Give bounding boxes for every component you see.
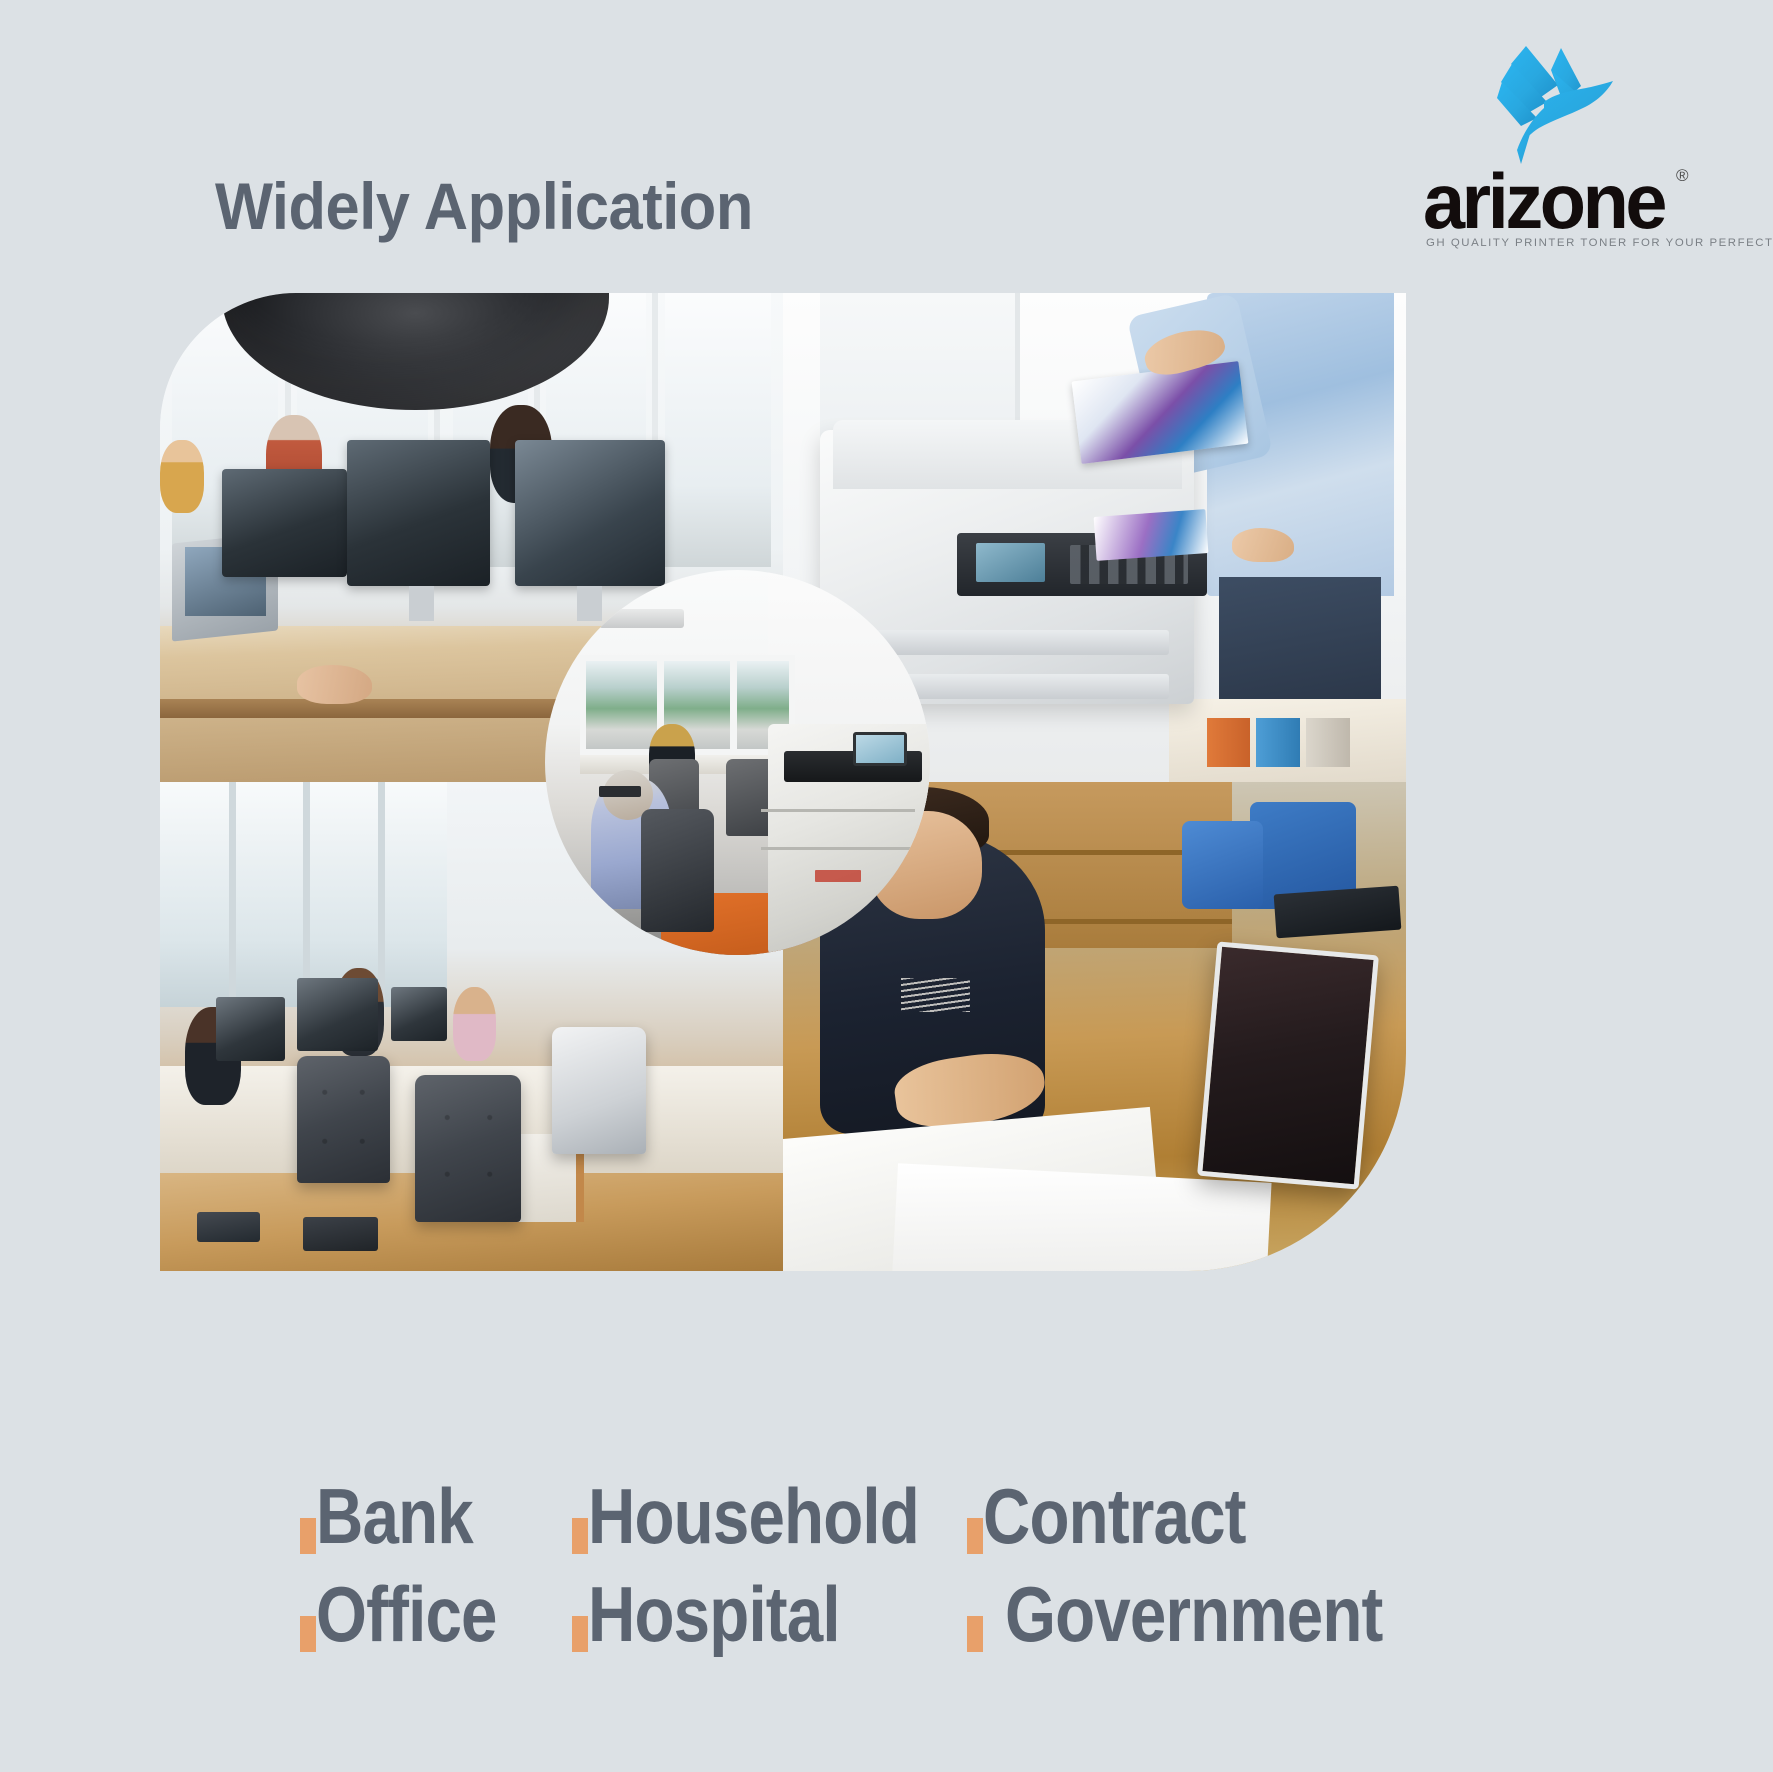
page-title: Widely Application <box>215 168 753 244</box>
label-row-2: Office Hospital Government <box>300 1574 1580 1656</box>
collage-photo-circle-copier-workspace <box>545 570 930 955</box>
bird-icon <box>1495 40 1645 168</box>
label-text-office: Office <box>316 1574 497 1656</box>
bullet-square-icon <box>300 1518 316 1554</box>
label-text-bank: Bank <box>316 1476 473 1558</box>
label-text-contract: Contract <box>983 1476 1246 1558</box>
application-labels: Bank Household Contract Office Hospital … <box>300 1476 1580 1656</box>
label-item-hospital: Hospital <box>572 1574 967 1656</box>
label-text-government: Government <box>1005 1574 1383 1656</box>
bullet-square-icon <box>967 1616 983 1652</box>
logo-wordmark: arizone <box>1423 162 1664 240</box>
bullet-square-icon <box>967 1518 983 1554</box>
bullet-square-icon <box>572 1616 588 1652</box>
registered-trademark-icon: ® <box>1676 166 1689 186</box>
label-item-household: Household <box>572 1476 967 1558</box>
label-text-household: Household <box>588 1476 919 1558</box>
label-item-contract: Contract <box>967 1476 1296 1558</box>
bullet-square-icon <box>300 1616 316 1652</box>
label-item-office: Office <box>300 1574 572 1656</box>
label-item-bank: Bank <box>300 1476 572 1558</box>
brand-logo: arizone ® GH QUALITY PRINTER TONER FOR Y… <box>1423 40 1723 255</box>
label-text-hospital: Hospital <box>588 1574 840 1656</box>
label-row-1: Bank Household Contract <box>300 1476 1580 1558</box>
logo-tagline: GH QUALITY PRINTER TONER FOR YOUR PERFEC… <box>1426 237 1773 249</box>
bullet-square-icon <box>572 1518 588 1554</box>
label-item-government: Government <box>967 1574 1454 1656</box>
